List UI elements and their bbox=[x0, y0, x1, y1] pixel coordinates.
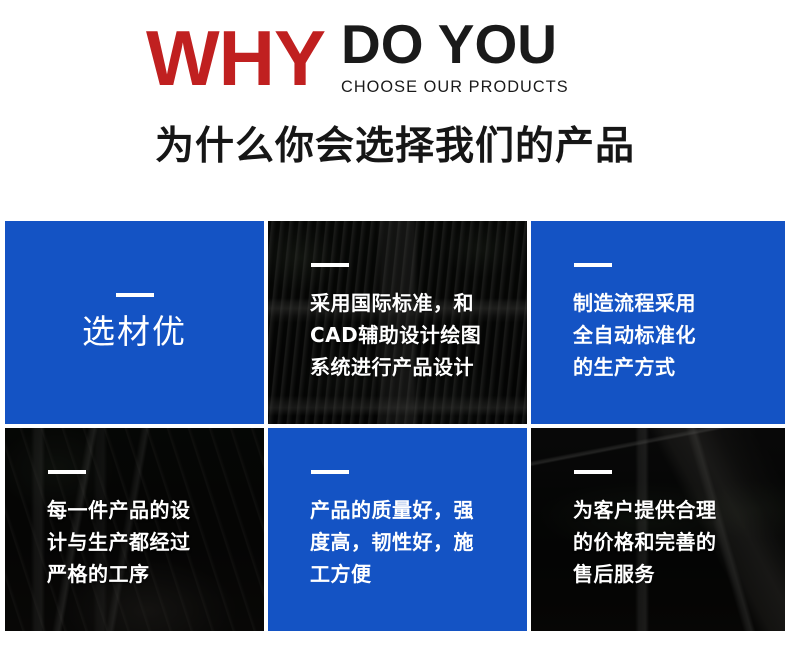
divider-dash-icon bbox=[574, 263, 612, 267]
page-header: WHY DO YOU CHOOSE OUR PRODUCTS 为什么你会选择我们… bbox=[0, 0, 790, 221]
feature-card-3-content: 制造流程采用 全自动标准化 的生产方式 bbox=[531, 221, 785, 424]
divider-dash-icon bbox=[48, 470, 86, 474]
subtitle-chinese: 为什么你会选择我们的产品 bbox=[0, 124, 790, 170]
feature-card-6[interactable]: 为客户提供合理 的价格和完善的 售后服务 bbox=[531, 428, 785, 631]
divider-dash-icon bbox=[311, 263, 349, 267]
headline-do-you: DO YOU bbox=[341, 14, 557, 74]
feature-card-6-text: 为客户提供合理 的价格和完善的 售后服务 bbox=[573, 494, 769, 590]
feature-card-1-content: 选材优 bbox=[5, 221, 264, 424]
feature-card-2-text: 采用国际标准，和 CAD辅助设计绘图 系统进行产品设计 bbox=[310, 287, 511, 383]
headline-right-block: DO YOU CHOOSE OUR PRODUCTS bbox=[341, 14, 578, 100]
feature-card-5[interactable]: 产品的质量好，强 度高，韧性好，施 工方便 bbox=[268, 428, 527, 631]
feature-card-3-text: 制造流程采用 全自动标准化 的生产方式 bbox=[573, 287, 769, 383]
headline-inner: WHY DO YOU CHOOSE OUR PRODUCTS bbox=[146, 14, 578, 100]
divider-dash-icon bbox=[574, 470, 612, 474]
headline-why: WHY bbox=[146, 16, 325, 100]
feature-card-2[interactable]: 采用国际标准，和 CAD辅助设计绘图 系统进行产品设计 bbox=[268, 221, 527, 424]
feature-card-3[interactable]: 制造流程采用 全自动标准化 的生产方式 bbox=[531, 221, 785, 424]
feature-card-5-text: 产品的质量好，强 度高，韧性好，施 工方便 bbox=[310, 494, 511, 590]
feature-card-4-content: 每一件产品的设 计与生产都经过 严格的工序 bbox=[5, 428, 264, 631]
feature-card-2-content: 采用国际标准，和 CAD辅助设计绘图 系统进行产品设计 bbox=[268, 221, 527, 424]
headline-choose-our-products: CHOOSE OUR PRODUCTS bbox=[341, 76, 569, 98]
feature-grid: 选材优 采用国际标准，和 CAD辅助设计绘图 系统进行产品设计 制造流程采用 全… bbox=[5, 221, 785, 635]
headline-group: WHY DO YOU CHOOSE OUR PRODUCTS bbox=[0, 14, 790, 104]
feature-card-6-content: 为客户提供合理 的价格和完善的 售后服务 bbox=[531, 428, 785, 631]
feature-card-1[interactable]: 选材优 bbox=[5, 221, 264, 424]
feature-card-1-text: 选材优 bbox=[82, 311, 187, 353]
feature-card-4-text: 每一件产品的设 计与生产都经过 严格的工序 bbox=[47, 494, 248, 590]
divider-dash-icon bbox=[311, 470, 349, 474]
divider-dash-icon bbox=[116, 293, 154, 297]
feature-card-4[interactable]: 每一件产品的设 计与生产都经过 严格的工序 bbox=[5, 428, 264, 631]
feature-card-5-content: 产品的质量好，强 度高，韧性好，施 工方便 bbox=[268, 428, 527, 631]
